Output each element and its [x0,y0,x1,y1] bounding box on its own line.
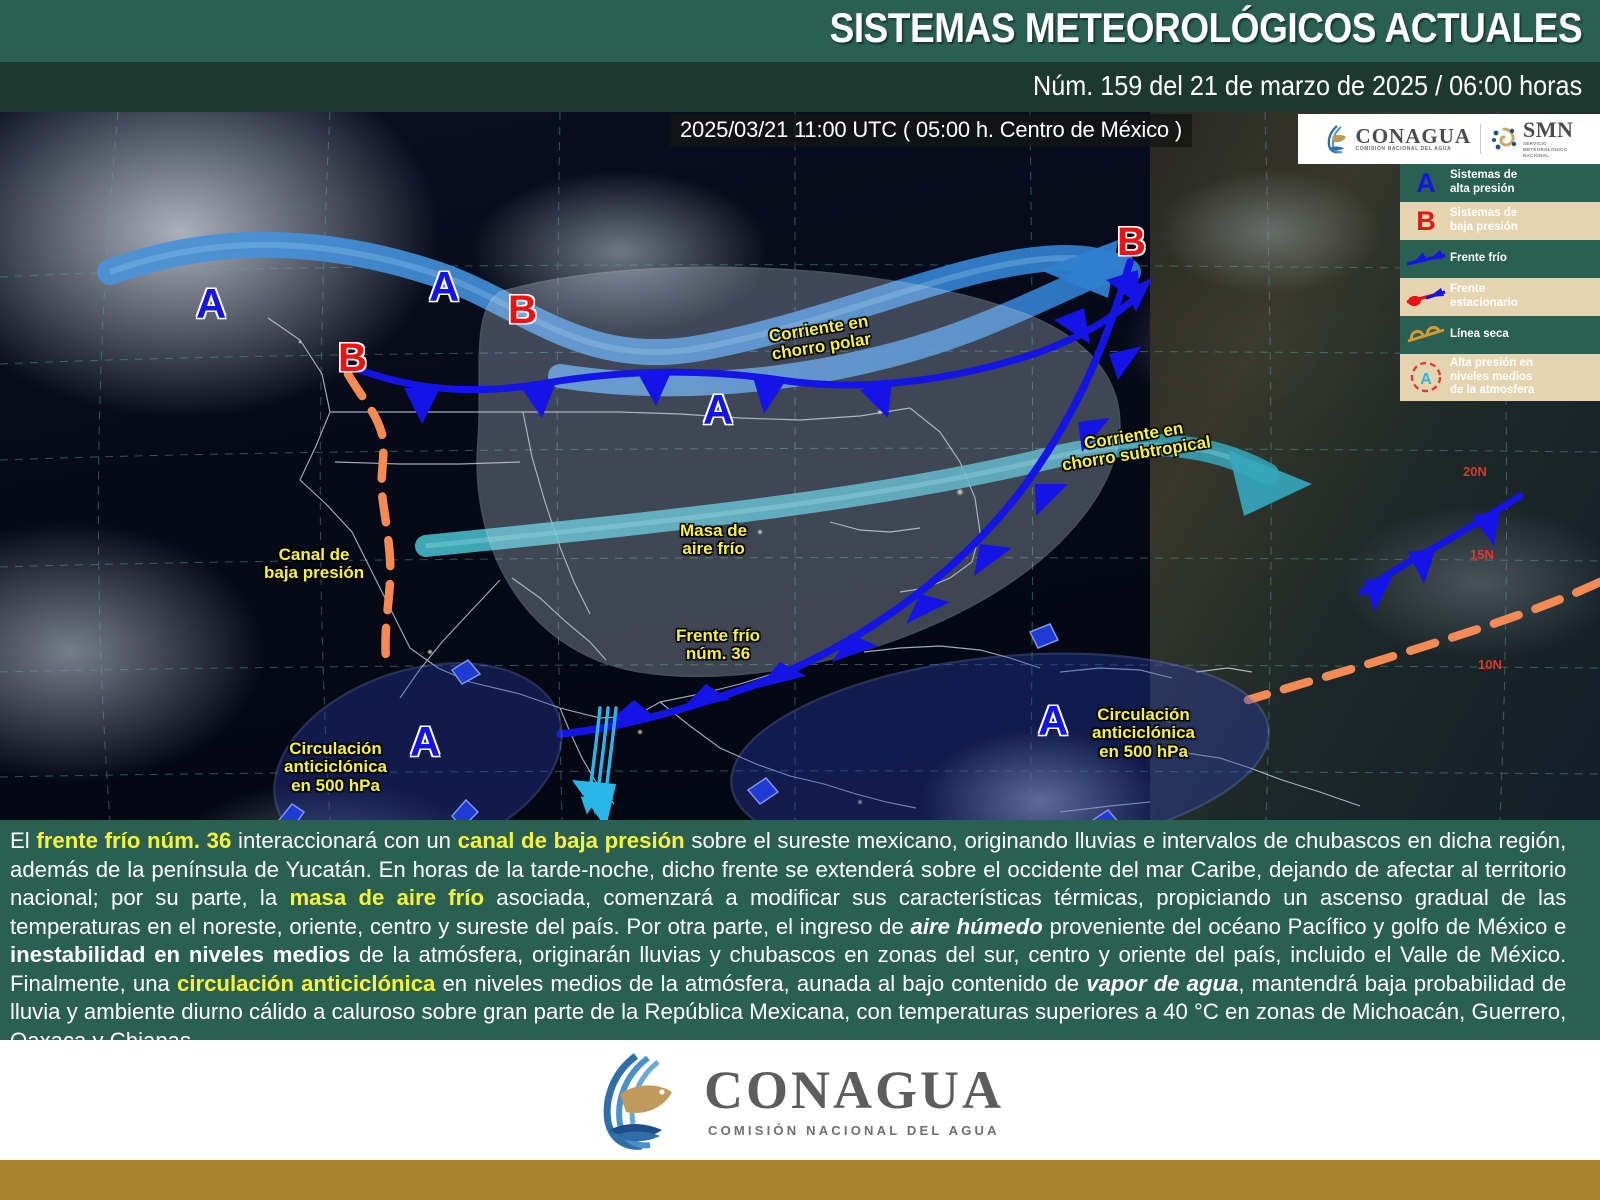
map-label-cold-air-mass: Masa de aire frío [680,522,747,559]
map-timestamp: 2025/03/21 11:00 UTC ( 05:00 h. Centro d… [670,114,1192,147]
low-pressure-symbol: B [1117,220,1146,265]
map-label-anticyclone-caribbean: Circulación anticiclónica en 500 hPa [1092,706,1195,761]
latitude-label: 20N [1463,464,1487,479]
conagua-wordmark: CONAGUA [1356,126,1472,147]
header-banner: SISTEMAS METEOROLÓGICOS ACTUALES [0,0,1600,62]
latitude-label: 10N [1478,657,1502,672]
bulletin-number-date: Núm. 159 del 21 de marzo de 2025 / 06:00… [1033,70,1582,102]
dry-line-icon [1402,324,1450,346]
forecast-paragraph: El frente frío núm. 36 interaccionará co… [10,827,1566,1056]
smn-logo: SMN SERVICIO METEOROLÓGICO NACIONAL [1490,119,1573,159]
map-label-anticyclone-pacific: Circulación anticiclónica en 500 hPa [284,740,387,795]
conagua-logo: CONAGUA COMISIÓN NACIONAL DEL AGUA [1325,124,1472,154]
high-pressure-symbol: A [429,263,459,311]
legend-item-cold-front[interactable]: Frente frío [1400,240,1600,278]
header-subtitle-bar: Núm. 159 del 21 de marzo de 2025 / 06:00… [0,62,1600,112]
legend-item-stationary-front[interactable]: Frente estacionario [1400,278,1600,316]
cold-front-icon [1402,248,1450,270]
weather-bulletin-page: SISTEMAS METEOROLÓGICOS ACTUALES Núm. 15… [0,0,1600,1200]
legend-item-low-pressure[interactable]: B Sistemas de baja presión [1400,202,1600,240]
dry-line [348,374,390,660]
low-level-arrow-south [572,780,616,820]
smn-wordmark: SMN [1523,119,1573,141]
high-pressure-symbol: A [703,386,733,434]
conagua-eagle-water-icon [1325,124,1351,154]
legend-label: Sistemas de alta presión [1450,169,1517,196]
bottom-gold-bar [0,1160,1600,1200]
legend-label: Frente frío [1450,252,1507,266]
agency-logo-strip: CONAGUA COMISIÓN NACIONAL DEL AGUA SMN S… [1298,114,1600,164]
stationary-front-icon [1402,286,1450,308]
mid-level-high-icon: A [1402,360,1450,394]
legend-label: Sistemas de baja presión [1450,207,1518,234]
footer-brand: CONAGUA [704,1063,1004,1117]
cold-front-atlantic [1362,496,1520,612]
high-pressure-symbol: A [1038,697,1068,745]
smn-spiral-icon [1490,125,1518,153]
letter-a-icon: A [1402,170,1450,197]
legend-label: Alta presión en niveles medios de la atm… [1450,357,1534,398]
conagua-eagle-water-icon [596,1050,688,1150]
legend-label: Frente estacionario [1450,283,1518,310]
legend-label: Línea seca [1450,328,1509,342]
svg-text:A: A [1420,371,1432,388]
conagua-footer-logo: CONAGUA COMISIÓN NACIONAL DEL AGUA [596,1050,1004,1150]
high-pressure-symbol: A [410,718,440,766]
low-pressure-symbol: B [508,288,537,333]
letter-b-icon: B [1402,208,1450,235]
latitude-label: 15N [1470,547,1494,562]
logo-divider [1480,124,1481,154]
legend-item-dry-line[interactable]: Línea seca [1400,316,1600,354]
map-legend: A Sistemas de alta presión B Sistemas de… [1400,164,1600,401]
map-overlay-graphics [0,112,1600,820]
satellite-weather-map[interactable]: Corriente en chorro polar Corriente en c… [0,112,1600,820]
legend-item-mid-level-high[interactable]: A Alta presión en niveles medios de la a… [1400,354,1600,401]
dry-line-atlantic [1248,582,1600,700]
map-label-low-pressure-trough: Canal de baja presión [264,546,364,583]
forecast-text-panel: El frente frío núm. 36 interaccionará co… [0,820,1600,1040]
low-pressure-symbol: B [338,336,367,381]
high-pressure-symbol: A [196,280,226,328]
map-label-cold-front-36: Frente frío núm. 36 [676,627,760,664]
footer-branding: CONAGUA COMISIÓN NACIONAL DEL AGUA [0,1040,1600,1160]
smn-tagline: SERVICIO METEOROLÓGICO NACIONAL [1523,141,1573,159]
footer-tagline: COMISIÓN NACIONAL DEL AGUA [704,1124,1004,1137]
legend-item-high-pressure[interactable]: A Sistemas de alta presión [1400,164,1600,202]
page-title: SISTEMAS METEOROLÓGICOS ACTUALES [829,4,1582,52]
